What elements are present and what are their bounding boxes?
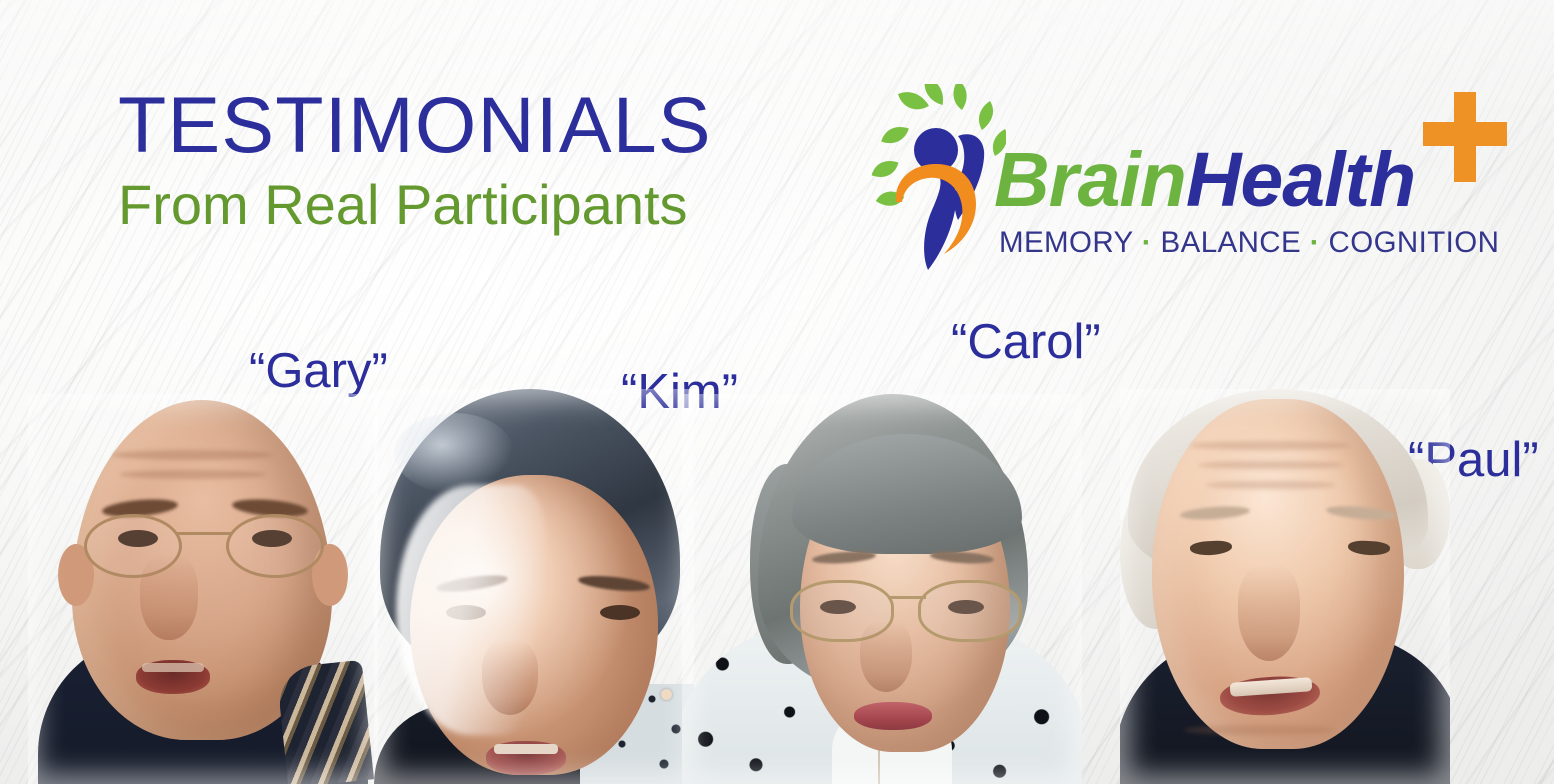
tagline-cognition: COGNITION [1329,226,1500,259]
tagline-separator-1: · [1142,226,1152,259]
participant-photo-gary [28,394,378,784]
participant-label-gary: “Gary” [249,347,388,396]
carol-mouth [854,702,932,730]
paul-forehead-line-1 [1190,441,1350,450]
gary-lens-right [226,514,324,578]
kim-earring [661,689,672,700]
paul-forehead-line-2 [1198,461,1344,469]
logo-word-health: Health [1186,137,1415,223]
paul-forehead-line-3 [1206,481,1336,489]
tagline-balance: BALANCE [1161,226,1302,259]
kim-eye-right [600,605,640,620]
logo-word-brain: Brain [994,137,1186,223]
page-subtitle: From Real Participants [118,177,712,233]
plus-icon [1423,92,1507,182]
logo-tagline: MEMORY · BALANCE · COGNITION [999,226,1499,260]
carol-nose [860,620,912,692]
gary-teeth [142,663,204,672]
page-title: TESTIMONIALS [118,86,712,163]
paul-nose [1238,565,1300,661]
gary-glasses-bridge [176,532,232,535]
gary-nose [140,554,198,640]
participant-label-carol: “Carol” [951,318,1101,367]
kim-teeth [494,744,558,754]
gary-glasses [84,514,324,576]
paul-chin-line [1184,725,1334,735]
participant-photo-paul [1120,389,1450,784]
logo-wordmark: BrainHealth [994,136,1415,225]
participant-photo-kim [374,389,694,784]
kim-overexposed-highlight [396,485,546,735]
gary-forehead-line-1 [112,450,272,460]
brainhealth-figure-leaves-icon [866,84,1006,272]
testimonial-slide: TESTIMONIALS From Real Participants [0,0,1554,784]
tagline-separator-2: · [1310,226,1320,259]
brainhealth-logo: BrainHealth MEMORY · BALANCE · COGNITION [866,84,1506,264]
carol-lens-right [918,580,1022,642]
headline-block: TESTIMONIALS From Real Participants [118,86,712,233]
carol-glasses-bridge [888,596,926,599]
gary-striped-collar [276,660,374,784]
participant-photo-carol [682,394,1082,784]
gary-forehead-line-2 [120,470,266,479]
tagline-memory: MEMORY [999,226,1133,259]
